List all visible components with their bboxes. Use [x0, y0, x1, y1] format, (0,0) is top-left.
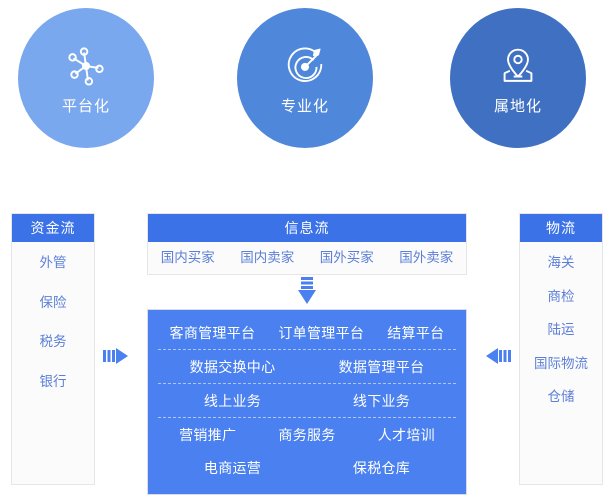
location-pin-map-icon — [495, 43, 541, 89]
list-item[interactable]: 国外买家 — [320, 251, 374, 265]
panel-row: 营销推广 商务服务 人才培训 — [158, 418, 456, 451]
flow-diagram: 资金流 外管 保险 税务 银行 信息流 国内买家 国内卖家 国外买家 国外卖家 — [0, 205, 614, 500]
feature-circle-localization[interactable]: 属地化 — [450, 8, 586, 148]
panel-row: 客商管理平台 订单管理平台 结算平台 — [158, 316, 456, 350]
arrow-pointing-right-icon — [103, 345, 133, 367]
panel-row: 线上业务 线下业务 — [158, 384, 456, 418]
panel-item[interactable]: 数据管理平台 — [339, 360, 425, 374]
panel-item[interactable]: 人才培训 — [378, 428, 435, 442]
panel-item[interactable]: 商务服务 — [278, 428, 335, 442]
list-item[interactable]: 海关 — [546, 256, 577, 270]
list-item[interactable]: 国外卖家 — [399, 251, 453, 265]
panel-item[interactable]: 线下业务 — [353, 394, 410, 408]
arrow-pointing-left-icon — [481, 345, 511, 367]
list-item[interactable]: 仓储 — [546, 390, 577, 404]
panel-item[interactable]: 保税仓库 — [353, 461, 410, 475]
panel-row: 电商运营 保税仓库 — [158, 451, 456, 484]
down-arrow-icon — [147, 275, 467, 309]
panel-item[interactable]: 线上业务 — [204, 394, 261, 408]
panel-item[interactable]: 客商管理平台 — [170, 326, 256, 340]
capital-flow-items: 外管 保险 税务 银行 — [12, 242, 94, 414]
logistics-column: 物流 海关 商检 陆运 国际物流 仓储 — [519, 213, 603, 485]
feature-circle-platform[interactable]: 平台化 — [18, 8, 154, 148]
list-item[interactable]: 税务 — [38, 335, 69, 349]
logistics-header: 物流 — [520, 214, 602, 242]
network-nodes-icon — [63, 43, 109, 89]
list-item[interactable]: 国内买家 — [161, 251, 215, 265]
panel-row: 数据交换中心 数据管理平台 — [158, 350, 456, 384]
information-flow-items: 国内买家 国内卖家 国外买家 国外卖家 — [148, 242, 466, 274]
list-item[interactable]: 陆运 — [546, 323, 577, 337]
panel-item[interactable]: 电商运营 — [204, 461, 261, 475]
information-flow-header: 信息流 — [148, 214, 466, 242]
feature-circle-professional[interactable]: 专业化 — [237, 8, 373, 148]
feature-circle-label: 平台化 — [62, 99, 110, 114]
feature-circle-label: 属地化 — [494, 99, 542, 114]
feature-circles-row: 平台化 专业化 属地化 — [0, 0, 614, 165]
list-item[interactable]: 商检 — [546, 290, 577, 304]
panel-item[interactable]: 订单管理平台 — [278, 326, 364, 340]
platform-services-panel: 客商管理平台 订单管理平台 结算平台 数据交换中心 数据管理平台 线上业务 线下… — [147, 309, 467, 495]
panel-item[interactable]: 结算平台 — [387, 326, 444, 340]
feature-circle-label: 专业化 — [281, 99, 329, 114]
information-flow-box: 信息流 国内买家 国内卖家 国外买家 国外卖家 — [147, 213, 467, 275]
target-arrow-icon — [282, 43, 328, 89]
panel-item[interactable]: 营销推广 — [179, 428, 236, 442]
capital-flow-header: 资金流 — [12, 214, 94, 242]
panel-item[interactable]: 数据交换中心 — [190, 360, 276, 374]
list-item[interactable]: 银行 — [38, 375, 69, 389]
logistics-items: 海关 商检 陆运 国际物流 仓储 — [520, 242, 602, 424]
list-item[interactable]: 保险 — [38, 296, 69, 310]
center-stack: 信息流 国内买家 国内卖家 国外买家 国外卖家 客商管理平台 订单管理平台 结算… — [147, 213, 467, 495]
list-item[interactable]: 国内卖家 — [240, 251, 294, 265]
capital-flow-column: 资金流 外管 保险 税务 银行 — [11, 213, 95, 485]
list-item[interactable]: 外管 — [38, 256, 69, 270]
list-item[interactable]: 国际物流 — [532, 357, 590, 371]
